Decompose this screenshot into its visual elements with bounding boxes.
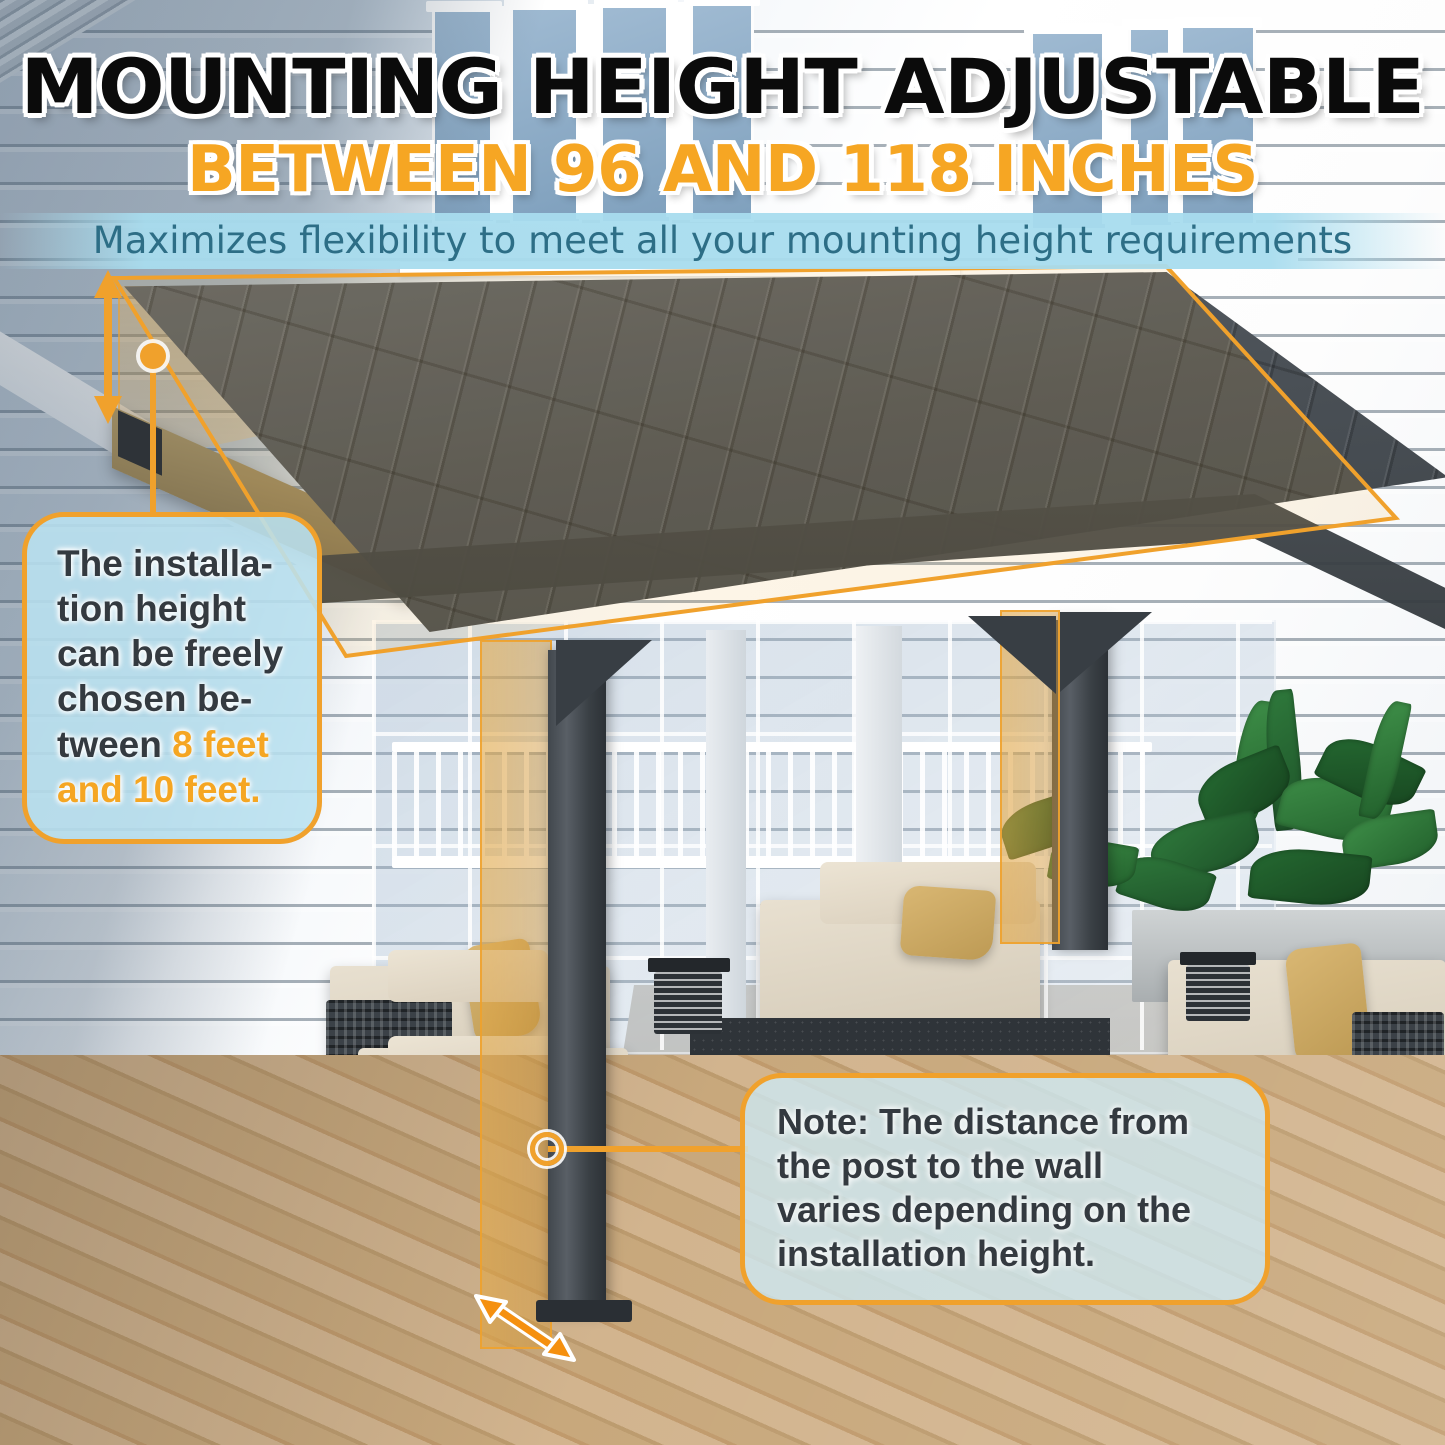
product-infographic: The installa- tion height can be freely … bbox=[0, 0, 1445, 1445]
callout-left-highlight-10feet: and 10 feet. bbox=[57, 767, 295, 812]
height-callout-leader-line bbox=[150, 356, 156, 516]
height-callout-anchor-dot bbox=[140, 343, 166, 369]
callout-right-line-3: varies depending on the bbox=[777, 1188, 1239, 1232]
side-table-b bbox=[1186, 965, 1250, 1021]
page-tagline: Maximizes flexibility to meet all your m… bbox=[0, 219, 1445, 262]
balcony-rail-bottom bbox=[392, 856, 1152, 868]
callout-right-line-2: the post to the wall bbox=[777, 1144, 1239, 1188]
callout-right-line-1: Note: The distance from bbox=[777, 1100, 1239, 1144]
post-callout-leader-line bbox=[548, 1146, 748, 1152]
callout-right-line-4: installation height. bbox=[777, 1232, 1239, 1276]
callout-post-to-wall-note: Note: The distance from the post to the … bbox=[740, 1073, 1270, 1305]
sofa-left-cushion-back bbox=[388, 950, 548, 1002]
side-table-top-b bbox=[1180, 952, 1256, 965]
callout-left-line-3: can be freely bbox=[57, 631, 295, 676]
balcony-rail-top bbox=[392, 742, 1152, 752]
page-subtitle: BETWEEN 96 AND 118 INCHES bbox=[0, 133, 1445, 207]
post-left-foot bbox=[536, 1300, 632, 1322]
callout-left-highlight-8feet: 8 feet bbox=[172, 724, 269, 765]
page-title: MOUNTING HEIGHT ADJUSTABLE bbox=[0, 42, 1445, 131]
side-table-top-a bbox=[648, 958, 730, 972]
callout-installation-height: The installa- tion height can be freely … bbox=[22, 512, 322, 844]
callout-left-line-5: tween 8 feet bbox=[57, 722, 295, 767]
callout-left-line-1: The installa- bbox=[57, 541, 295, 586]
callout-left-line-2: tion height bbox=[57, 586, 295, 631]
pillow-tan-center bbox=[900, 885, 997, 961]
callout-left-line-5-plain: tween bbox=[57, 724, 172, 765]
callout-left-line-4: chosen be- bbox=[57, 676, 295, 721]
post-left bbox=[548, 650, 606, 1315]
post-callout-anchor-dot bbox=[530, 1132, 564, 1166]
side-table-a bbox=[654, 972, 722, 1034]
